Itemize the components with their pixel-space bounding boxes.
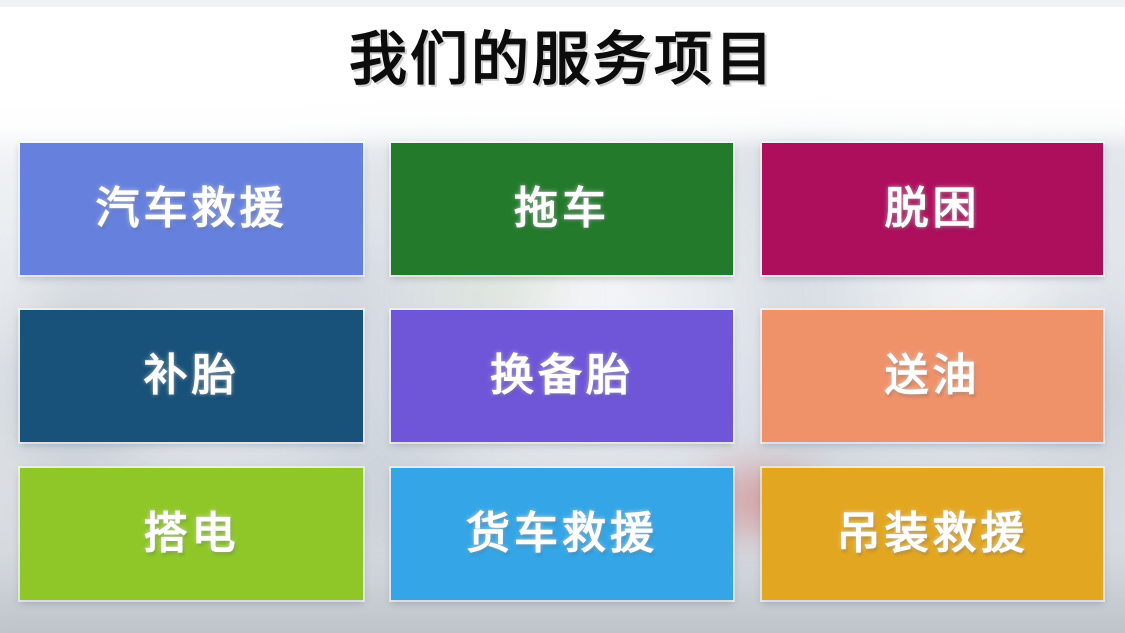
service-grid: 汽车救援 拖车 脱困 补胎 换备胎 送油 搭电 货车救援 吊装救援 [0,0,1125,633]
service-tile-jump-start[interactable]: 搭电 [20,468,363,600]
service-poster: 我们的服务项目 汽车救援 拖车 脱困 补胎 换备胎 送油 搭电 货车救援 吊装救… [0,0,1125,633]
service-tile-tow-truck[interactable]: 拖车 [391,143,733,275]
service-tile-label: 送油 [885,352,981,400]
service-tile-label: 汽车救援 [96,185,288,233]
service-tile-label: 换备胎 [490,352,634,400]
service-tile-fuel-delivery[interactable]: 送油 [762,310,1103,442]
service-tile-label: 吊装救援 [837,510,1029,558]
service-tile-spare-tire-change[interactable]: 换备胎 [391,310,733,442]
service-tile-crane-rescue[interactable]: 吊装救援 [762,468,1103,600]
service-tile-label: 搭电 [144,510,240,558]
service-tile-extrication[interactable]: 脱困 [762,143,1103,275]
service-tile-truck-rescue[interactable]: 货车救援 [391,468,733,600]
service-tile-label: 脱困 [885,185,981,233]
service-tile-label: 补胎 [144,352,240,400]
service-tile-label: 货车救援 [466,510,658,558]
service-tile-tire-repair[interactable]: 补胎 [20,310,363,442]
service-tile-label: 拖车 [514,185,610,233]
service-tile-car-rescue[interactable]: 汽车救援 [20,143,363,275]
